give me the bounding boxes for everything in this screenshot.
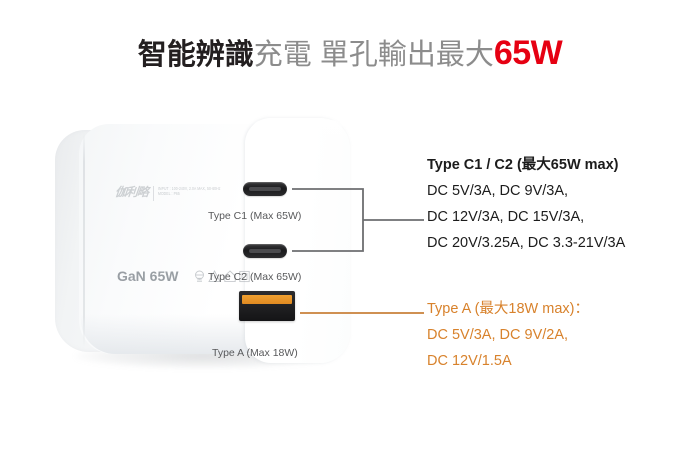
brand-logo: 伽利略 — [114, 186, 148, 198]
charger-print-block: 伽利略 INPUT : 100-240V, 2.0A MAX, 50-60Hz … — [115, 186, 221, 201]
usb-a-port — [239, 291, 295, 321]
type-a-line-1: DC 5V/3A, DC 9V/2A, — [427, 322, 697, 348]
type-c-line-2: DC 12V/3A, DC 15V/3A, — [427, 204, 697, 230]
type-c-info-block: Type C1 / C2 (最大65W max) DC 5V/3A, DC 9V… — [427, 152, 697, 256]
usb-a-tongue — [242, 295, 292, 304]
spec-print: INPUT : 100-240V, 2.0A MAX, 50-60Hz MODE… — [158, 186, 221, 196]
title-red-wattage: 65W — [494, 34, 562, 72]
charger-front-highlight — [251, 120, 343, 150]
type-a-heading: Type A (最大18W max)： — [427, 296, 697, 322]
type-a-line-2: DC 12V/1.5A — [427, 348, 697, 374]
recycle-icon — [194, 270, 205, 283]
spec-model-line: MODEL : P65 — [158, 191, 221, 197]
title-gray-part: 充電 單孔輸出最大 — [254, 39, 494, 71]
charger-illustration: 伽利略 INPUT : 100-240V, 2.0A MAX, 50-60Hz … — [55, 118, 345, 370]
title-strong-part: 智能辨識 — [138, 39, 254, 71]
usb-a-caption: Type A (Max 18W) — [212, 347, 298, 359]
print-divider — [153, 186, 154, 201]
page-title: 智能辨識充電 單孔輸出最大65W — [0, 36, 700, 70]
usb-c1-port — [243, 182, 287, 196]
type-c-heading: Type C1 / C2 (最大65W max) — [427, 152, 697, 178]
type-c-line-1: DC 5V/3A, DC 9V/3A, — [427, 178, 697, 204]
usb-c2-caption: Type C2 (Max 65W) — [208, 271, 301, 283]
usb-c1-caption: Type C1 (Max 65W) — [208, 210, 301, 222]
type-a-info-block: Type A (最大18W max)： DC 5V/3A, DC 9V/2A, … — [427, 296, 697, 374]
gan-label: GaN 65W — [117, 268, 178, 284]
charger-front-face — [245, 118, 350, 363]
usb-c2-port — [243, 244, 287, 258]
type-c-line-3: DC 20V/3.25A, DC 3.3-21V/3A — [427, 230, 697, 256]
